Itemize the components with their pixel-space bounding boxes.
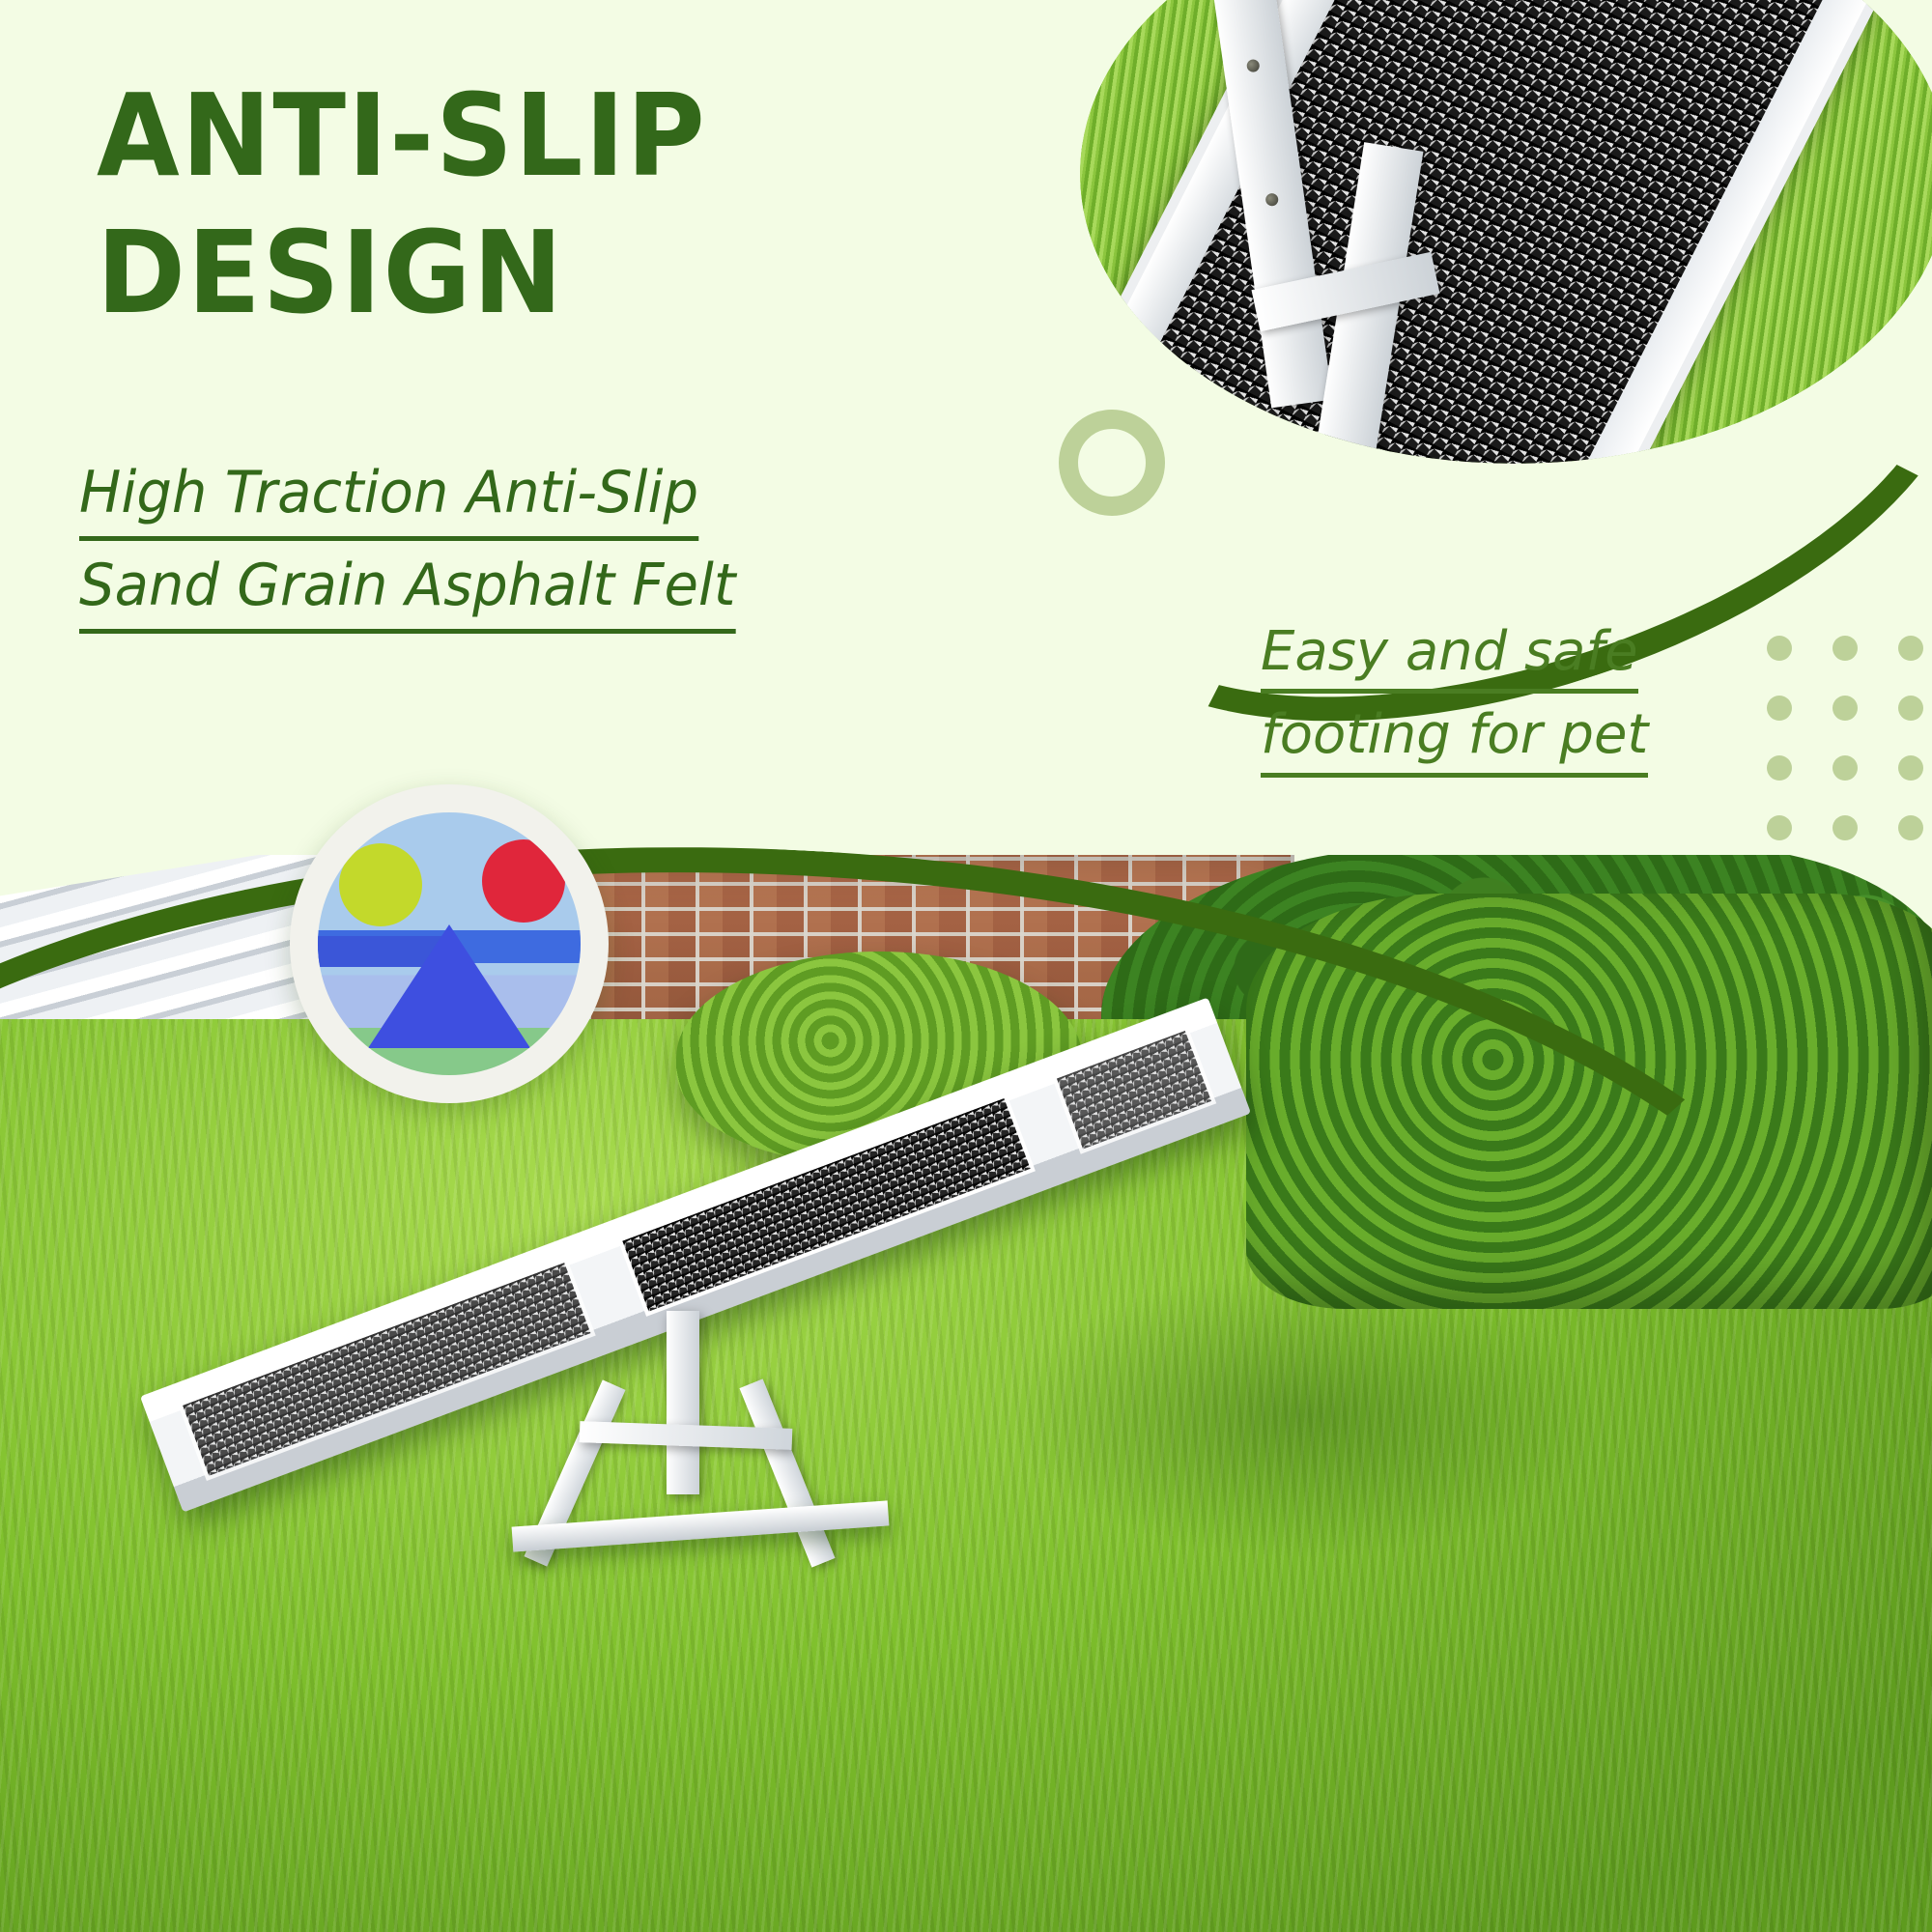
badge-fulcrum-icon bbox=[368, 924, 530, 1048]
seesaw-balance-icon bbox=[290, 784, 609, 1103]
seesaw-felt-tread-mid bbox=[617, 1094, 1036, 1317]
decor-dot bbox=[1898, 696, 1923, 721]
dot-grid-right bbox=[1747, 618, 1932, 858]
inset-photo-anti-slip-felt-closeup bbox=[1080, 0, 1932, 464]
callout-line-1: Easy and safe bbox=[1261, 618, 1638, 694]
seesaw-pivot-post bbox=[667, 1311, 699, 1494]
photo-boxwood-hedge-right bbox=[1246, 894, 1932, 1309]
main-photo-pet-seesaw-in-garden bbox=[0, 855, 1932, 1932]
callout-line-2: footing for pet bbox=[1261, 701, 1648, 777]
decor-dot bbox=[1898, 815, 1923, 840]
headline-line-1: Anti-Slip bbox=[97, 69, 707, 202]
seesaw-felt-tread-upper bbox=[1052, 1026, 1217, 1154]
screw-icon bbox=[1264, 192, 1279, 207]
subheadline-line-1: High Traction Anti-Slip bbox=[79, 456, 698, 541]
decor-dot bbox=[1898, 755, 1923, 781]
badge-ball-left-icon bbox=[339, 843, 422, 926]
subheadline-line-2: Sand Grain Asphalt Felt bbox=[79, 549, 736, 634]
badge-disc bbox=[318, 812, 581, 1075]
decor-dot bbox=[1833, 696, 1858, 721]
callout-text: Easy and safe footing for pet bbox=[1261, 618, 1763, 785]
subheadline: High Traction Anti-Slip Sand Grain Aspha… bbox=[79, 456, 842, 641]
product-pet-seesaw bbox=[126, 971, 1285, 1550]
screw-icon bbox=[1246, 59, 1261, 73]
decor-dot bbox=[1833, 815, 1858, 840]
decor-dot bbox=[1833, 755, 1858, 781]
seesaw-brace-right bbox=[739, 1378, 835, 1567]
decor-dot bbox=[1767, 815, 1792, 840]
seesaw-felt-tread-lower bbox=[178, 1258, 596, 1481]
decor-dot bbox=[1767, 636, 1792, 661]
decor-dot bbox=[1833, 636, 1858, 661]
decor-ring-top bbox=[1059, 410, 1165, 516]
page-title: Anti-Slip Design bbox=[97, 68, 786, 341]
product-feature-poster: Anti-Slip Design High Traction Anti-Slip… bbox=[0, 0, 1932, 1932]
decor-dot bbox=[1767, 755, 1792, 781]
decor-dot bbox=[1767, 696, 1792, 721]
headline-line-2: Design bbox=[97, 205, 786, 342]
badge-ball-right-icon bbox=[482, 839, 565, 923]
decor-dot bbox=[1898, 636, 1923, 661]
